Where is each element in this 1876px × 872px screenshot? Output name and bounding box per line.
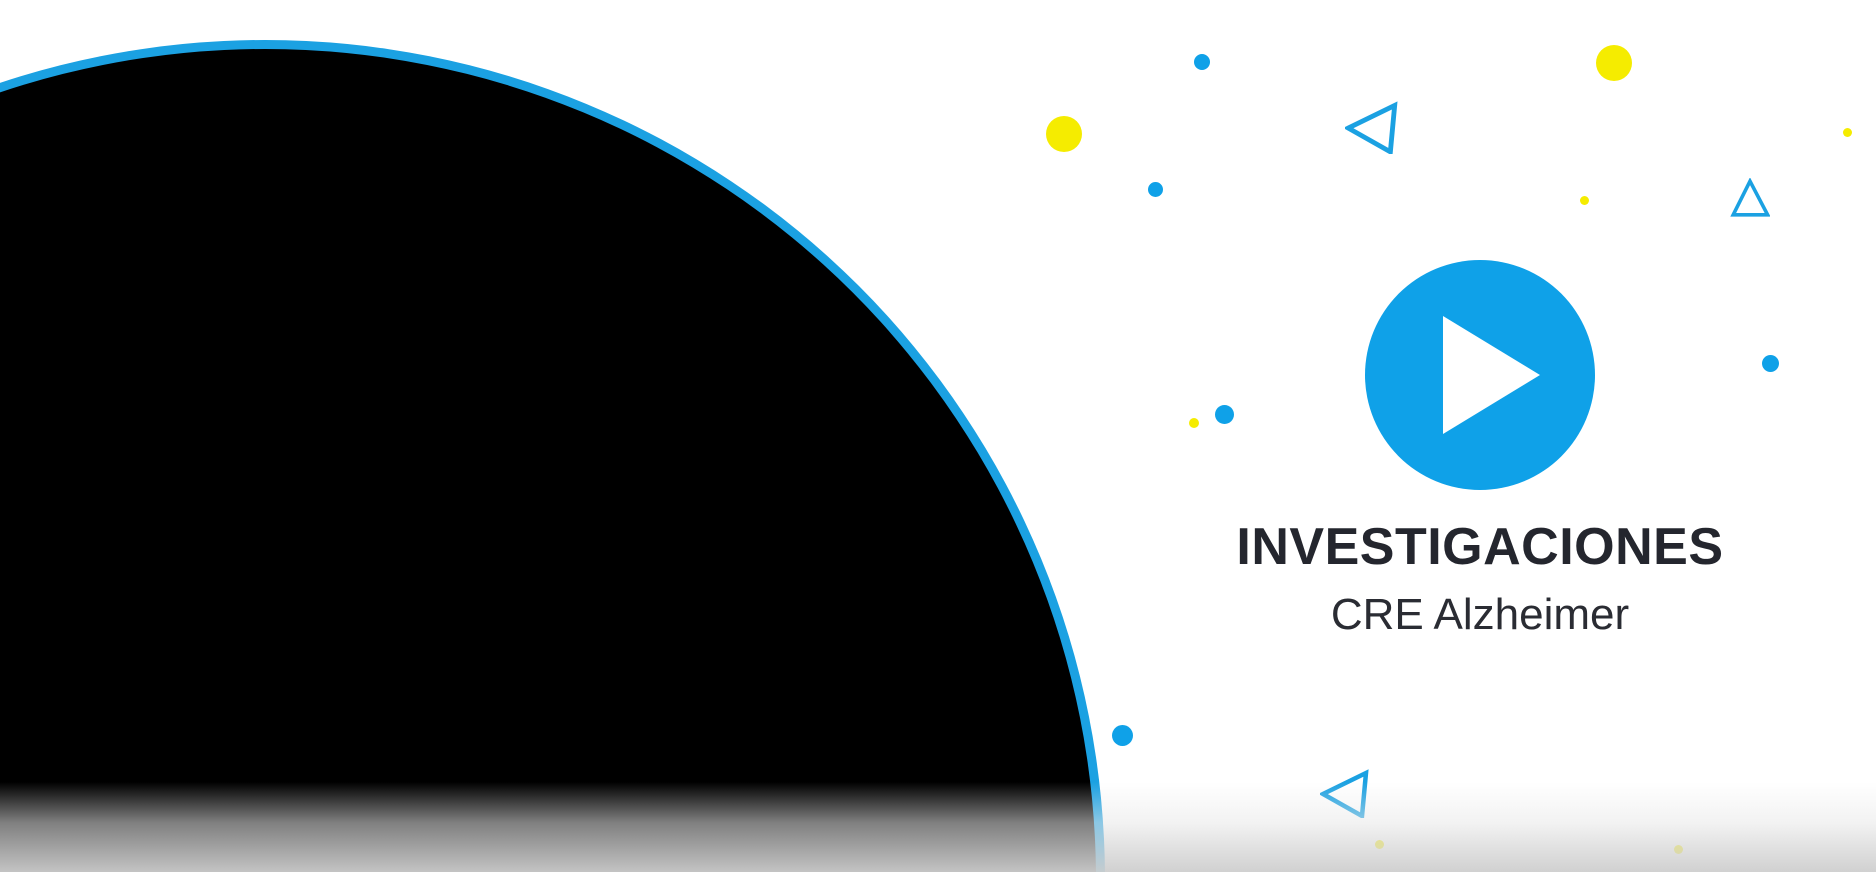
video-title-block: INVESTIGACIONES CRE Alzheimer: [1075, 520, 1876, 642]
thumbnail-surface: [0, 49, 1096, 872]
blue-dot-icon: [1762, 355, 1779, 372]
yellow-dot-small-icon: [1674, 845, 1683, 854]
play-button[interactable]: [1365, 260, 1595, 490]
thumbnail-ring: [0, 40, 1105, 872]
video-thumbnail[interactable]: [0, 40, 1105, 872]
yellow-dot-small-icon: [1843, 128, 1852, 137]
blue-dot-icon: [1194, 54, 1210, 70]
video-player-slate: INVESTIGACIONES CRE Alzheimer: [0, 0, 1876, 872]
yellow-circle-icon: [1596, 45, 1632, 81]
triangle-left-icon: [1345, 100, 1399, 154]
blue-dot-icon: [1148, 182, 1163, 197]
yellow-circle-icon: [1046, 116, 1082, 152]
blue-dot-icon: [1215, 405, 1234, 424]
triangle-left-icon: [1320, 768, 1370, 818]
blue-dot-icon: [1112, 725, 1133, 746]
page-title: INVESTIGACIONES: [1075, 520, 1876, 575]
triangle-up-icon: [1730, 178, 1770, 218]
yellow-dot-small-icon: [1580, 196, 1589, 205]
yellow-dot-small-icon: [1189, 418, 1199, 428]
play-icon: [1443, 316, 1540, 434]
page-subtitle: CRE Alzheimer: [1075, 589, 1876, 642]
yellow-dot-small-icon: [1375, 840, 1384, 849]
